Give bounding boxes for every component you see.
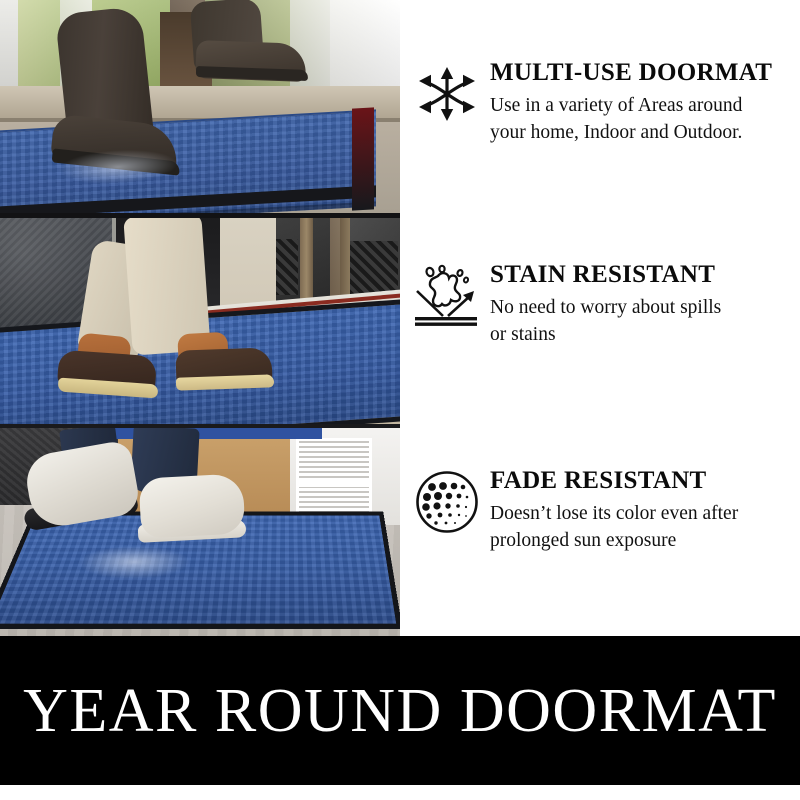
photo3-motion-blur: [74, 546, 190, 579]
feature-body-line-1: Use in a variety of Areas around: [490, 95, 742, 116]
feature-body-line-2: or stains: [490, 324, 556, 345]
feature-list-column: MULTI-USE DOORMAT Use in a variety of Ar…: [400, 0, 800, 636]
liquid-splash-repel-icon: [408, 260, 486, 344]
feature-text-block: STAIN RESISTANT No need to worry about s…: [486, 260, 800, 348]
photo2-entry-grate-right: [350, 241, 398, 295]
feature-item-fade-resistant: FADE RESISTANT Doesn’t lose its color ev…: [400, 466, 800, 554]
feature-heading: MULTI-USE DOORMAT: [490, 58, 790, 88]
fading-dot-grid-icon: [408, 466, 486, 550]
photo2-top-divider: [0, 213, 400, 218]
product-photo-column: [0, 0, 400, 636]
photo1-doormat-side-border: [352, 107, 374, 210]
photo-sneakers-on-doormat-wood-floor: [0, 424, 400, 636]
photo3-front-sneaker: [139, 473, 246, 538]
feature-text-block: FADE RESISTANT Doesn’t lose its color ev…: [486, 466, 800, 554]
photo3-door-panel-upper-right: [296, 438, 372, 484]
top-content-area: MULTI-USE DOORMAT Use in a variety of Ar…: [0, 0, 800, 636]
feature-body-line-1: No need to worry about spills: [490, 297, 721, 318]
bottom-banner: YEAR ROUND DOORMAT: [0, 636, 800, 785]
feature-body-line-2: prolonged sun exposure: [490, 530, 676, 551]
feature-item-multi-use-doormat: MULTI-USE DOORMAT Use in a variety of Ar…: [400, 58, 800, 146]
feature-body: No need to worry about spills or stains: [490, 294, 790, 348]
photo-duck-boots-on-large-doormat: [0, 213, 400, 424]
feature-item-stain-resistant: STAIN RESISTANT No need to worry about s…: [400, 260, 800, 348]
feature-body-line-2: your home, Indoor and Outdoor.: [490, 122, 742, 143]
infographic-page: MULTI-USE DOORMAT Use in a variety of Ar…: [0, 0, 800, 800]
feature-heading: FADE RESISTANT: [490, 466, 790, 496]
feature-body: Doesn’t lose its color even after prolon…: [490, 500, 790, 554]
photo3-top-divider: [0, 424, 400, 428]
multi-direction-arrows-icon: [408, 58, 486, 142]
photo-boots-on-doormat-green-door: [0, 0, 400, 213]
feature-heading: STAIN RESISTANT: [490, 260, 790, 290]
banner-title: YEAR ROUND DOORMAT: [23, 678, 777, 744]
bottom-white-strip: [0, 785, 800, 800]
photo1-motion-blur: [58, 147, 178, 187]
feature-text-block: MULTI-USE DOORMAT Use in a variety of Ar…: [486, 58, 800, 146]
feature-body-line-1: Doesn’t lose its color even after: [490, 503, 738, 524]
feature-body: Use in a variety of Areas around your ho…: [490, 92, 790, 146]
